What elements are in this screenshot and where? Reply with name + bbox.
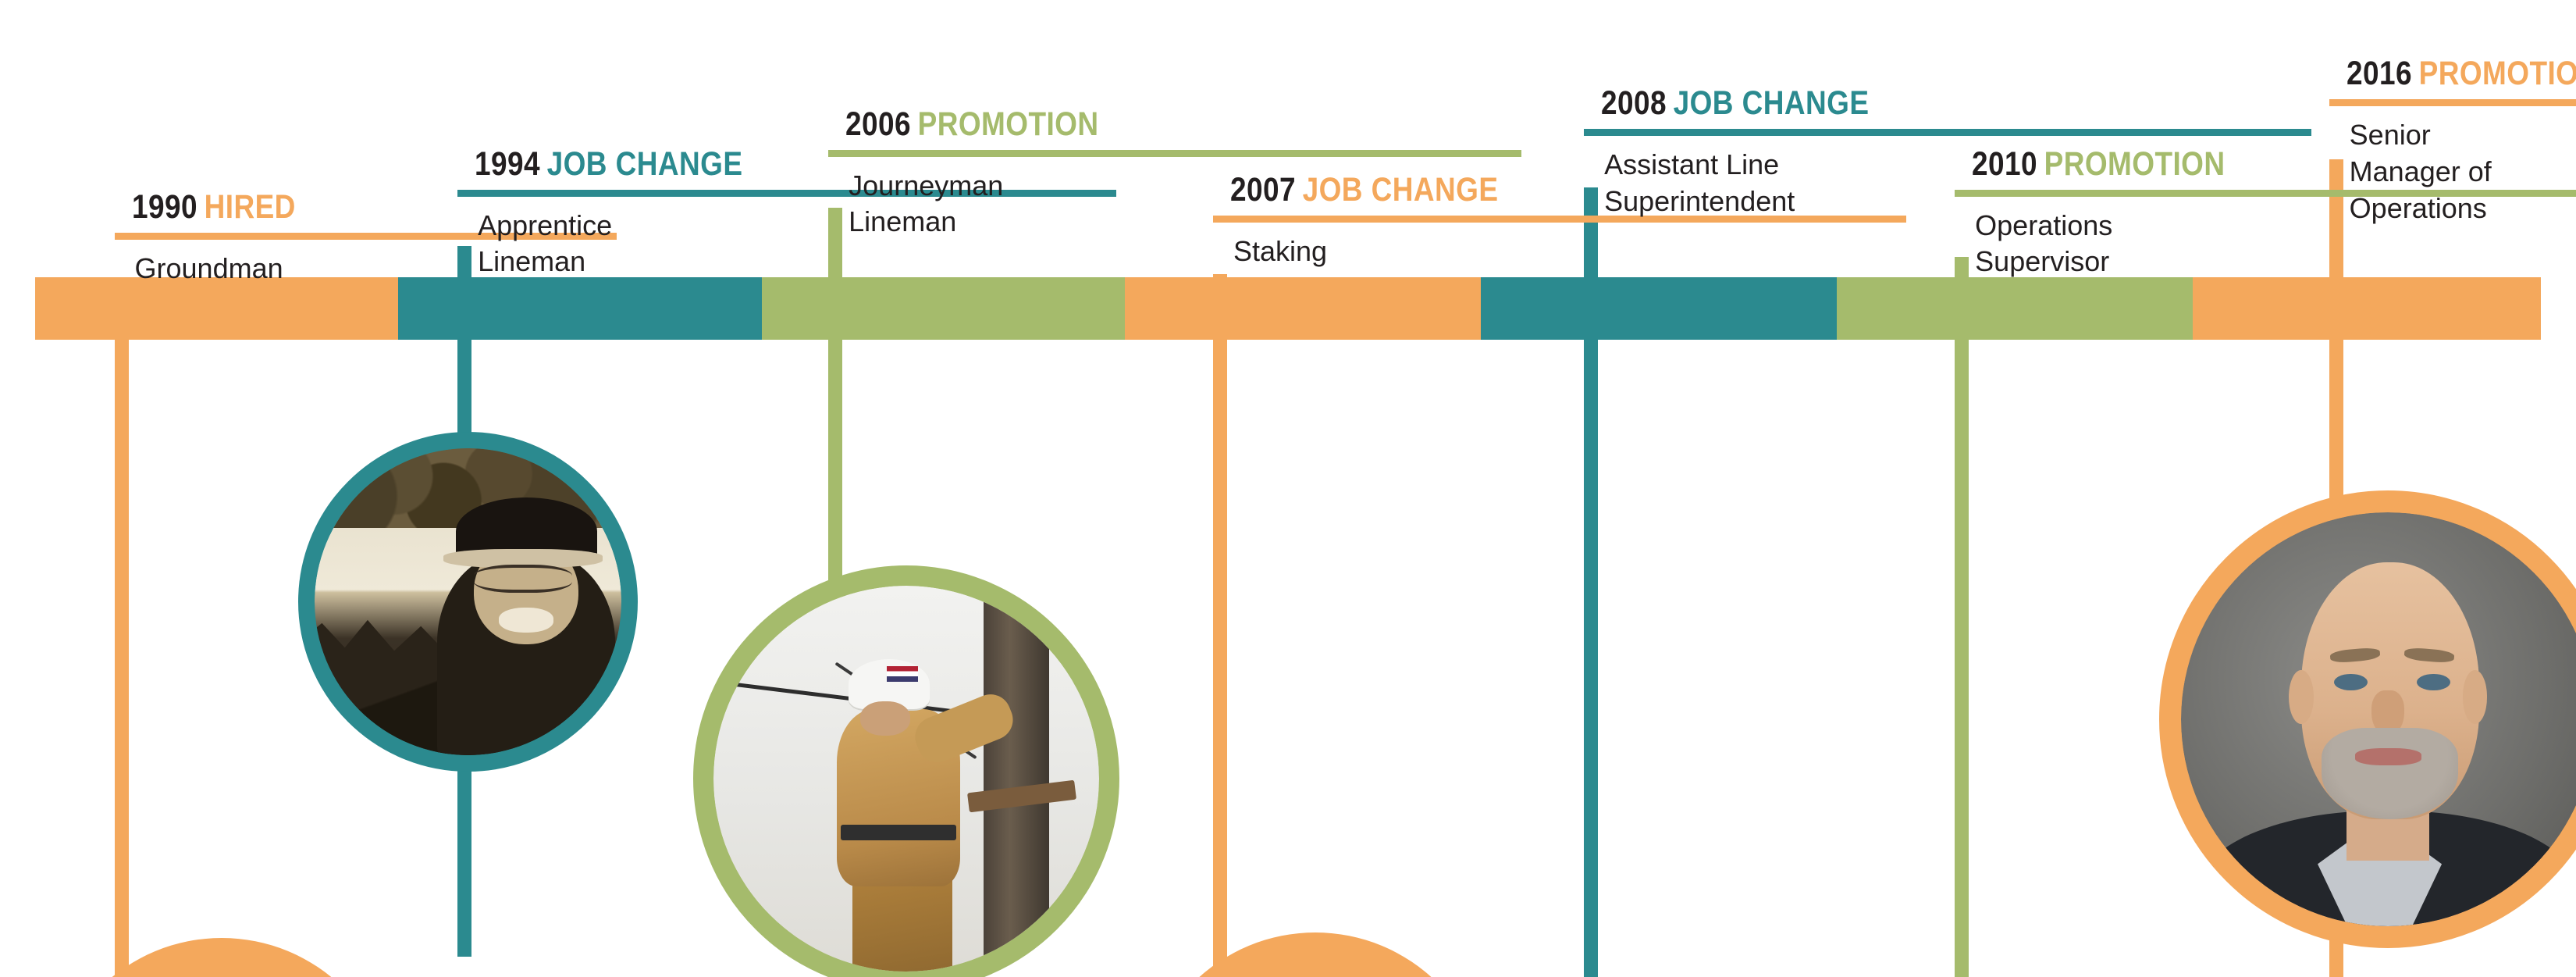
node-1990[interactable] (48, 938, 395, 977)
headshot-bald-man-with-goatee (2181, 512, 2576, 926)
bar-segment-2006 (762, 277, 1125, 340)
sepia-portrait-man-in-cap (315, 448, 621, 755)
connector-1990 (115, 291, 129, 977)
node-1994-photo[interactable] (298, 432, 638, 772)
bar-segment-2010 (1837, 277, 2193, 340)
milestone-2016[interactable]: 2016PROMOTION Senior Manager of Operatio… (2329, 57, 2576, 226)
milestone-year-2010: 2010 (1972, 145, 2037, 183)
milestone-year-2008: 2008 (1601, 84, 1667, 122)
node-2007[interactable] (1142, 932, 1489, 977)
node-2006-photo[interactable] (693, 565, 1119, 977)
milestone-kind-2010: PROMOTION (2044, 145, 2226, 183)
connector-2007 (1213, 274, 1227, 977)
milestone-rule-2006 (828, 150, 1521, 157)
milestone-heading-2016: 2016PROMOTION (2347, 57, 2576, 91)
milestone-title-2007: Staking (1213, 223, 1906, 270)
milestone-year-2016: 2016 (2347, 55, 2412, 92)
bar-segment-2007 (1125, 277, 1481, 340)
bar-segment-2008 (1481, 277, 1837, 340)
milestone-title-2016: Senior Manager of Operations (2329, 106, 2576, 226)
connector-2010 (1955, 257, 1969, 977)
milestone-rule-2016 (2329, 99, 2576, 106)
milestone-kind-2016: PROMOTION (2418, 55, 2576, 92)
milestone-kind-2008: JOB CHANGE (1674, 84, 1870, 122)
timeline-infographic: 1990HIRED Groundman 1994JOB CHANGE Appre… (0, 0, 2576, 977)
milestone-year-1990: 1990 (132, 188, 197, 226)
lineman-climbing-iced-pole (713, 586, 1099, 972)
milestone-year-1994: 1994 (475, 145, 540, 183)
node-2016-photo[interactable] (2159, 490, 2576, 948)
milestone-year-2007: 2007 (1230, 171, 1296, 209)
milestone-heading-2006: 2006PROMOTION (845, 108, 1427, 141)
milestone-year-2006: 2006 (845, 105, 911, 143)
milestone-kind-2006: PROMOTION (918, 105, 1099, 143)
milestone-kind-1994: JOB CHANGE (547, 145, 743, 183)
connector-2008 (1584, 187, 1598, 977)
milestone-kind-1990: HIRED (204, 188, 295, 226)
milestone-kind-2007: JOB CHANGE (1303, 171, 1499, 209)
milestone-rule-2008 (1584, 129, 2311, 136)
milestone-heading-2008: 2008JOB CHANGE (1601, 87, 2212, 120)
bar-segment-2016 (2193, 277, 2541, 340)
